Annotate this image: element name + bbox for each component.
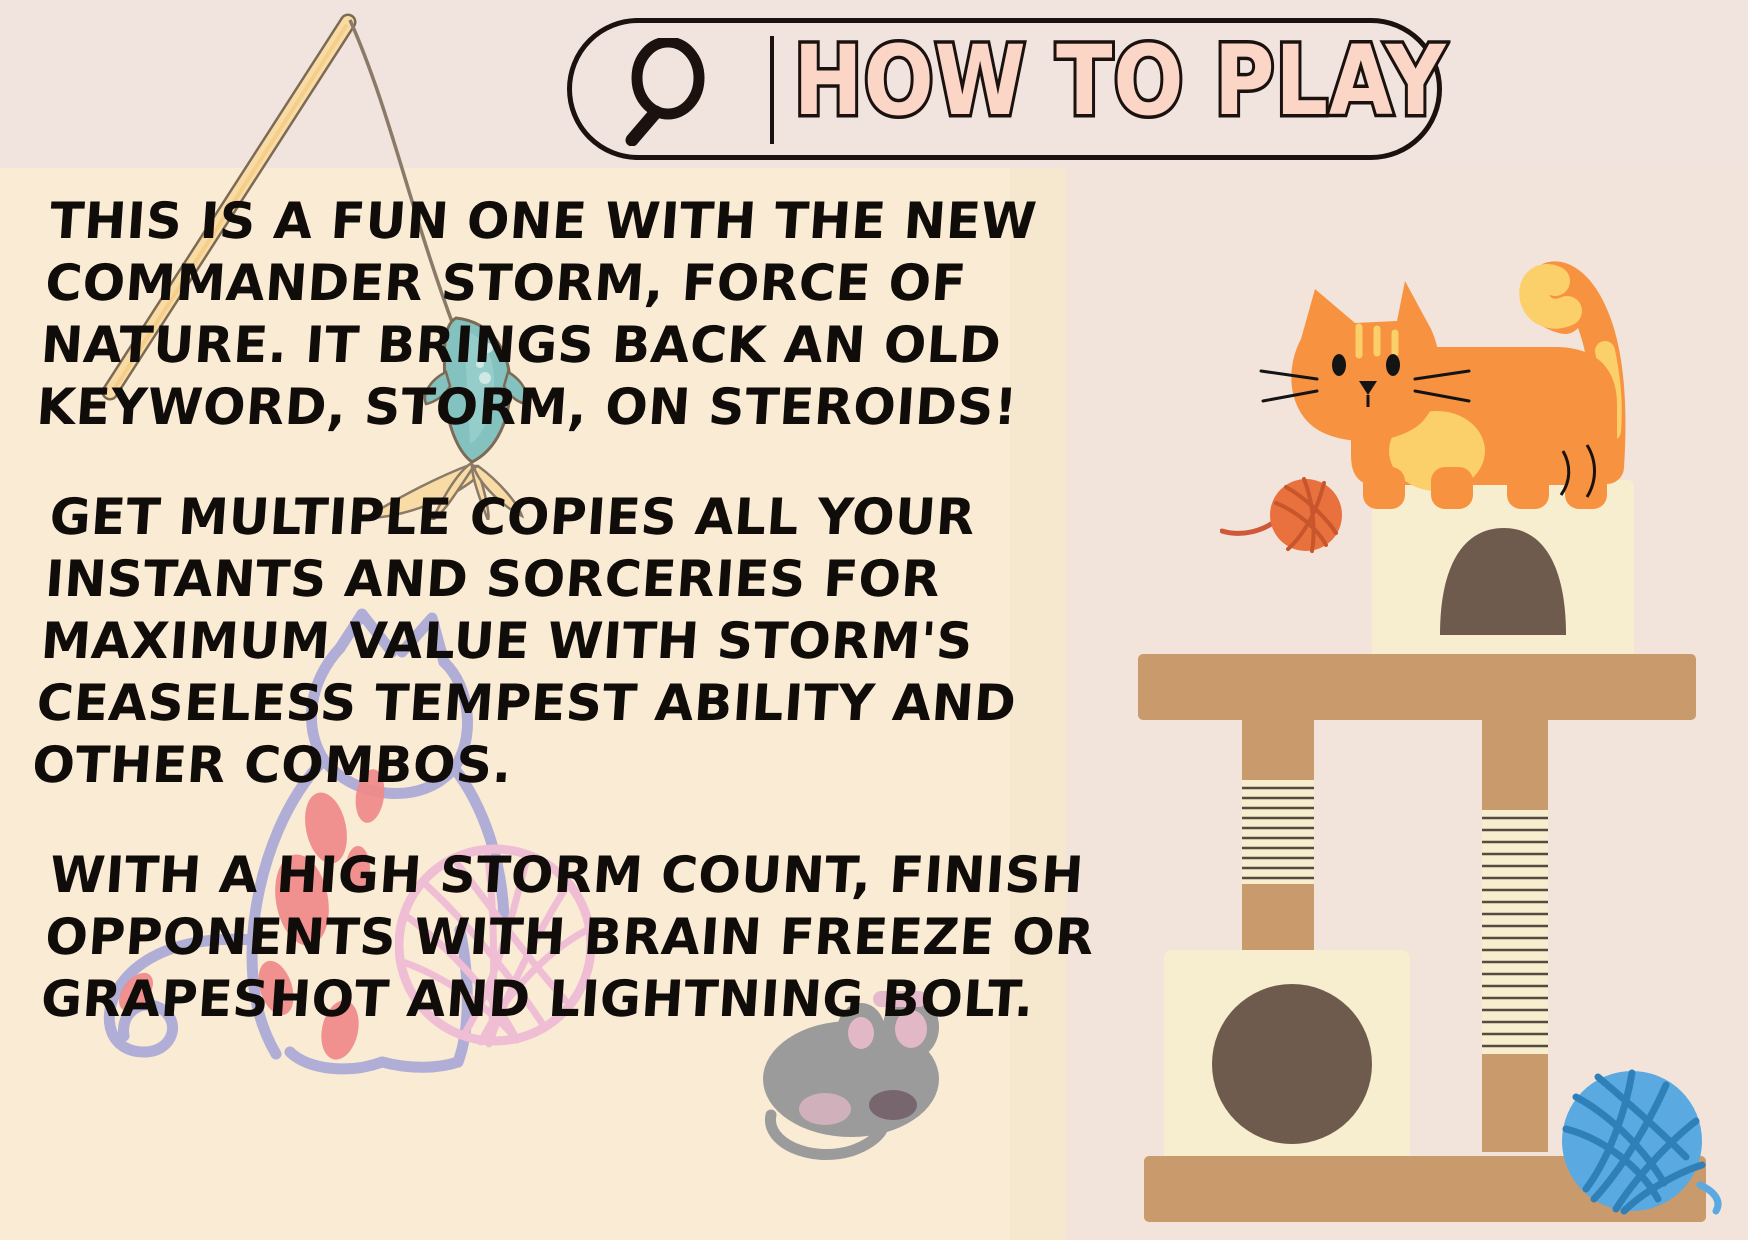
paragraph-3: With a high storm count, finish opponent… (39, 844, 1232, 1030)
header-divider (770, 36, 774, 144)
red-yarn-ball (1220, 465, 1350, 555)
poster-canvas: HOW TO PLAY This is a fun one with the n… (0, 0, 1748, 1240)
paragraph-1: This is a fun one with the new Commander… (35, 190, 1232, 438)
blue-yarn-ball (1560, 1065, 1730, 1225)
page-title: HOW TO PLAY (849, 20, 1391, 142)
paragraph-2: Get multiple copies all your instants an… (30, 486, 1232, 796)
how-to-play-copy: This is a fun one with the new Commander… (52, 190, 1232, 1030)
magnifying-glass-icon (620, 38, 730, 146)
